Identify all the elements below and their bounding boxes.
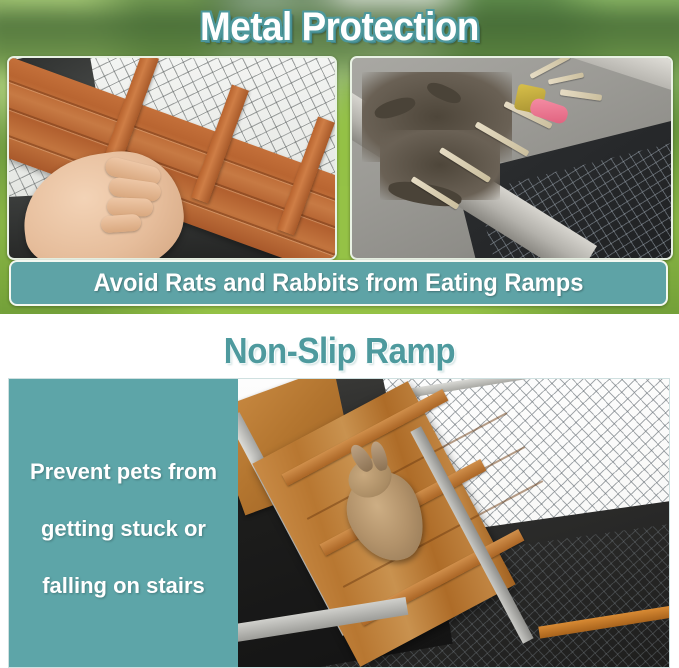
caption-banner-text: Avoid Rats and Rabbits from Eating Ramps	[27, 262, 649, 304]
photo-rabbit-on-non-slip-ramp	[238, 379, 670, 668]
photo-hand-holding-metal-edged-ramp	[7, 56, 337, 260]
caption-banner: Avoid Rats and Rabbits from Eating Ramps	[9, 260, 668, 306]
photo-chewed-damaged-ramp	[350, 56, 673, 260]
infographic-page: Metal Protection	[0, 0, 679, 668]
callout-line: getting stuck or	[9, 516, 238, 542]
non-slip-ramp-card: Prevent pets from getting stuck or falli…	[8, 378, 670, 668]
metal-protection-section: Metal Protection	[0, 0, 679, 314]
page-title: Metal Protection	[27, 2, 652, 52]
non-slip-ramp-section: Non-Slip Ramp Prevent pets from getting …	[0, 314, 679, 668]
callout-line: falling on stairs	[9, 573, 238, 599]
human-hand	[100, 214, 141, 234]
callout-line: Prevent pets from	[9, 459, 238, 485]
callout-panel: Prevent pets from getting stuck or falli…	[9, 379, 238, 667]
section-title: Non-Slip Ramp	[27, 329, 652, 373]
